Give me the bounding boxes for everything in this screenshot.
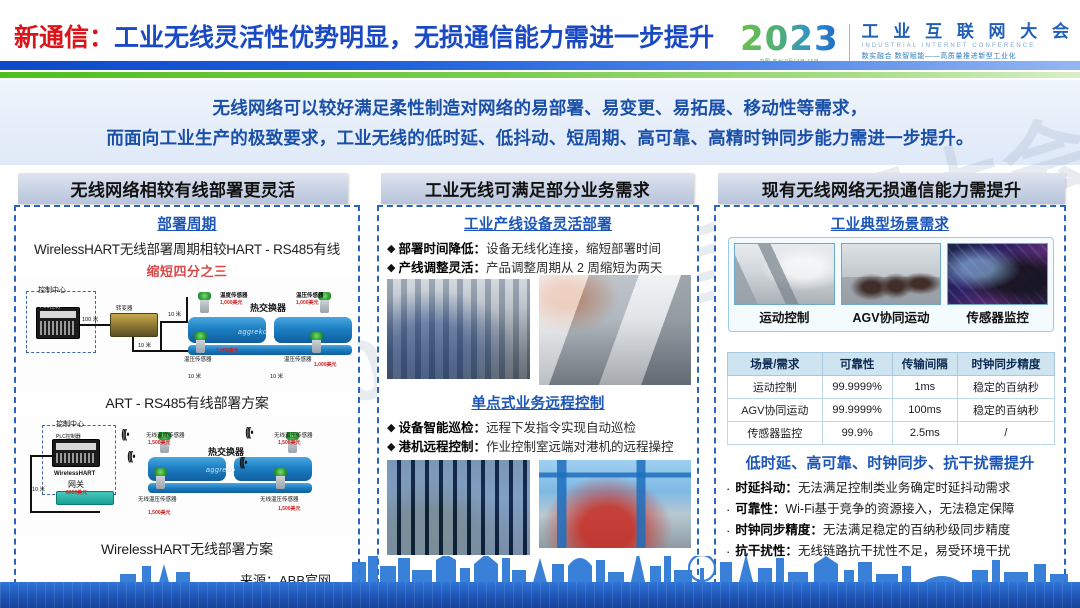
sensor-head-icon	[274, 468, 287, 476]
distance-10m-b: 10 米	[168, 310, 181, 318]
logo-conference-cn: 工 业 互 联 网 大 会	[862, 22, 1074, 42]
wireless-price-4: 1,500美元	[278, 505, 301, 512]
price-label-1: 1,000美元	[220, 299, 243, 306]
wireless-price-1: 1,500美元	[148, 439, 171, 446]
cell-0-1: 99.9999%	[822, 376, 892, 399]
heat-exchanger-base-w	[148, 483, 312, 493]
section-header-right: 现有无线网络无损通信能力需提升	[718, 173, 1065, 204]
logo-text-block: 工 业 互 联 网 大 会 INDUSTRIAL INTERNET CONFER…	[862, 22, 1074, 61]
transformer-unit	[110, 313, 158, 337]
agv-photo	[841, 243, 942, 305]
cell-1-2: 100ms	[892, 399, 957, 422]
bullet-key: 部署时间降低：	[398, 240, 486, 259]
dot-bullet-icon: ·	[726, 541, 730, 562]
table-col-0: 场景/需求	[728, 353, 823, 376]
gap-value: 无线链路抗干扰性不足，易受环境干扰	[798, 541, 1011, 562]
logo-divider	[849, 24, 850, 63]
mid-block2-bullet-1: ◆ 港机远程控制： 作业控制室远端对港机的远程操控	[387, 438, 689, 457]
press-sensor-label-1: 温压传感器	[184, 355, 212, 363]
factory-assembly-photo	[387, 279, 530, 379]
temp-sensor-1	[200, 297, 209, 313]
cell-0-3: 稳定的百纳秒	[957, 376, 1054, 399]
wire-seg-5	[160, 321, 188, 323]
gateway-brand-label: WirelessHART	[54, 471, 95, 477]
dot-bullet-icon: ·	[726, 520, 730, 541]
table-col-2: 传输间隔	[892, 353, 957, 376]
page-title: 新通信：工业无线灵活性优势明显，无损通信能力需进一步提升	[14, 18, 714, 54]
table-col-1: 可靠性	[822, 353, 892, 376]
wireless-press-sensor-2	[276, 473, 285, 489]
plc-screen	[56, 443, 96, 450]
price-label-3: 1,000美元	[216, 347, 239, 354]
press-sensor-label-2: 温压传感器	[284, 355, 312, 363]
wire-w-2	[30, 455, 56, 457]
rf-wave-icon-1: ((( •	[127, 449, 134, 463]
divider-stripe-blue	[0, 61, 1080, 70]
diamond-bullet-icon: ◆	[387, 259, 395, 278]
wireless-deployment-diagram: 控制中心 PLC控制器 WirelessHART 网关 6000美元 10 米 …	[20, 415, 356, 537]
gap-item-0: · 时延抖动： 无法满足控制类业务确定时延抖动需求	[726, 478, 1064, 499]
temp-sensor-label-2: 温压传感器	[296, 291, 324, 299]
scene-card-1: AGV协同运动	[841, 243, 942, 326]
gap-value: Wi-Fi基于竞争的资源接入，无法稳定保障	[785, 499, 1014, 520]
banner-line-2: 而面向工业生产的极致要求，工业无线的低时延、低抖动、短周期、高可靠、高精时钟同步…	[106, 123, 973, 153]
table-col-3: 时钟同步精度	[957, 353, 1054, 376]
wire-w-3	[30, 511, 100, 513]
gap-item-1: · 可靠性： Wi-Fi基于竞争的资源接入，无法稳定保障	[726, 499, 1064, 520]
rf-wave-icon-3: ((( •	[245, 425, 252, 439]
mid-block1-title: 工业产线设备灵活部署	[387, 213, 689, 234]
wire-seg-4	[160, 321, 162, 351]
diamond-bullet-icon: ◆	[387, 419, 395, 438]
wireless-sensor-label-4: 无线温压传感器	[260, 495, 299, 503]
distance-10m-c: 10 米	[188, 372, 201, 380]
plc-label: PLC控制	[40, 303, 60, 310]
wire-w-1	[30, 455, 32, 513]
gap-key: 时钟同步精度：	[735, 520, 823, 541]
gap-key: 时延抖动：	[735, 478, 798, 499]
bullet-key: 产线调整灵活：	[398, 259, 486, 278]
gaps-title: 低时延、高可靠、时钟同步、抗干扰需提升	[714, 452, 1066, 473]
mid-block2-bullet-0: ◆ 设备智能巡检： 远程下发指令实现自动巡检	[387, 419, 689, 438]
transformer-label: 转变器	[116, 304, 133, 312]
bullet-value: 远程下发指令实现自动巡检	[486, 419, 636, 438]
conference-logo: 2023 中国·苏州 9月14日-16日 工 业 互 联 网 大 会 INDUS…	[740, 22, 1074, 65]
cell-2-3: /	[957, 422, 1054, 445]
plc-keypad	[40, 321, 76, 335]
production-line-photo	[539, 275, 691, 385]
bullet-value: 作业控制室远端对港机的远程操控	[486, 438, 674, 457]
gap-key: 可靠性：	[735, 499, 785, 520]
banner-line-1: 无线网络可以较好满足柔性制造对网络的易部署、易变更、易拓展、移动性等需求，	[213, 93, 868, 123]
temp-sensor-label-1: 温度传感器	[220, 291, 248, 299]
distance-10m-w: 10 米	[32, 485, 45, 493]
wire-seg-1	[80, 324, 110, 326]
control-room-photo	[387, 460, 530, 555]
plc-label-w: PLC控制器	[56, 433, 81, 440]
scene-requirements-table: 场景/需求 可靠性 传输间隔 时钟同步精度 运动控制 99.9999% 1ms …	[727, 352, 1055, 445]
press-sensor-1	[196, 337, 205, 353]
bullet-key: 港机远程控制：	[398, 438, 486, 457]
sensor-head-icon	[310, 332, 323, 340]
gap-value: 无法满足控制类业务确定时延抖动需求	[798, 478, 1011, 499]
wire-seg-2	[132, 337, 134, 351]
distance-10m-d: 10 米	[270, 372, 283, 380]
heat-exchanger-base	[188, 345, 352, 355]
plc-unit-w	[52, 439, 100, 467]
scene-caption-1: AGV协同运动	[841, 307, 942, 326]
logo-year: 2023	[740, 22, 839, 56]
title-bar: 新通信：工业无线灵活性优势明显，无损通信能力需进一步提升 2023 中国·苏州 …	[0, 0, 1080, 62]
control-center-label-w: 控制中心	[56, 419, 84, 429]
gap-item-2: · 时钟同步精度： 无法满足稳定的百纳秒级同步精度	[726, 520, 1064, 541]
wireless-sensor-label-2: 无线温压传感器	[274, 431, 313, 439]
distance-10m-a: 10 米	[138, 341, 151, 349]
cell-0-0: 运动控制	[728, 376, 823, 399]
plc-keypad	[56, 453, 96, 463]
wireless-price-3: 1,500美元	[148, 509, 171, 516]
cell-2-1: 99.9%	[822, 422, 892, 445]
cell-0-2: 1ms	[892, 376, 957, 399]
scenes-gallery: 运动控制 AGV协同运动 传感器监控	[728, 237, 1054, 332]
scene-caption-0: 运动控制	[734, 307, 835, 326]
page-title-main: 工业无线灵活性优势明显，无损通信能力需进一步提升	[114, 24, 714, 52]
wireless-diagram-caption: WirelessHART无线部署方案	[16, 539, 358, 559]
sensor-head-icon	[194, 332, 207, 340]
cell-1-3: 稳定的百纳秒	[957, 399, 1054, 422]
table-header-row: 场景/需求 可靠性 传输间隔 时钟同步精度	[728, 353, 1055, 376]
left-panel-title: 部署周期	[22, 213, 352, 234]
dot-bullet-icon: ·	[726, 478, 730, 499]
wireless-sensor-label-1: 无线温度传感器	[146, 431, 185, 439]
vessel-brand-label-w: aggreko	[206, 467, 236, 474]
wired-deployment-diagram: 控制中心 PLC控制 100 米 转变器 10 米 10 米 10 米 10 米…	[20, 277, 356, 392]
price-label-4: 1,000美元	[314, 361, 337, 368]
panel-mid: 工业产线设备灵活部署 ◆ 部署时间降低： 设备无线化连接，缩短部署时间 ◆ 产线…	[377, 205, 699, 585]
gap-value: 无法满足稳定的百纳秒级同步精度	[823, 520, 1011, 541]
wire-seg-6	[186, 297, 188, 323]
vessel-brand-label: aggreko	[238, 329, 268, 336]
motion-control-photo	[734, 243, 835, 305]
sensor-head-icon	[198, 292, 211, 300]
cell-2-0: 传感器监控	[728, 422, 823, 445]
scene-caption-2: 传感器监控	[947, 307, 1048, 326]
sensor-monitor-photo	[947, 243, 1048, 305]
wired-diagram-caption: ART - RS485有线部署方案	[16, 393, 358, 413]
gap-item-3: · 抗干扰性： 无线链路抗干扰性不足，易受环境干扰	[726, 541, 1064, 562]
temp-sensor-2	[320, 297, 329, 313]
divider-stripe-green	[0, 72, 1080, 78]
rf-wave-icon-2: ((( •	[121, 427, 128, 441]
diamond-bullet-icon: ◆	[387, 438, 395, 457]
table-row: 传感器监控 99.9% 2.5ms /	[728, 422, 1055, 445]
table-row: AGV协同运动 99.9999% 100ms 稳定的百纳秒	[728, 399, 1055, 422]
rf-wave-icon-4: ((( •	[239, 455, 246, 469]
gateway-price-label: 6000美元	[66, 489, 87, 496]
scene-card-0: 运动控制	[734, 243, 835, 326]
distance-100m-label: 100 米	[82, 315, 98, 323]
wireless-press-sensor-1	[156, 473, 165, 489]
page-title-prefix: 新通信：	[14, 24, 114, 52]
mid-block2-title: 单点式业务远程控制	[387, 392, 689, 413]
press-sensor-2	[312, 337, 321, 353]
panel-left: 部署周期 WirelessHART无线部署周期相较HART - RS485有线 …	[14, 205, 360, 585]
wireless-sensor-label-3: 无线温压传感器	[138, 495, 177, 503]
logo-year-block: 2023 中国·苏州 9月14日-16日	[740, 22, 839, 65]
table-row: 运动控制 99.9999% 1ms 稳定的百纳秒	[728, 376, 1055, 399]
scene-card-2: 传感器监控	[947, 243, 1048, 326]
dot-bullet-icon: ·	[726, 499, 730, 520]
cell-1-1: 99.9999%	[822, 399, 892, 422]
wireless-price-2: 1,500美元	[278, 439, 301, 446]
skyline-band	[0, 582, 1080, 608]
slide-root: 新通信：工业无线灵活性优势明显，无损通信能力需进一步提升 2023 中国·苏州 …	[0, 0, 1080, 608]
section-header-mid: 工业无线可满足部分业务需求	[381, 173, 694, 204]
source-note: 来源：ABB官网	[240, 570, 331, 600]
plc-unit	[36, 307, 80, 339]
mid-block1-bullet-0: ◆ 部署时间降低： 设备无线化连接，缩短部署时间	[387, 240, 689, 259]
gaps-list: · 时延抖动： 无法满足控制类业务确定时延抖动需求 · 可靠性： Wi-Fi基于…	[726, 478, 1064, 562]
diamond-bullet-icon: ◆	[387, 240, 395, 259]
cell-1-0: AGV协同运动	[728, 399, 823, 422]
section-header-left: 无线网络相较有线部署更灵活	[18, 173, 348, 204]
port-crane-photo	[539, 460, 691, 548]
right-panel-title: 工业典型场景需求	[724, 213, 1056, 234]
logo-slogan: 数实融合 数智赋能——高质量推进新型工业化	[862, 51, 1074, 61]
left-panel-subtitle: WirelessHART无线部署周期相较HART - RS485有线	[22, 238, 352, 258]
sensor-head-icon	[154, 468, 167, 476]
heat-exchanger-label: 热交换器	[250, 301, 286, 314]
plc-screen	[40, 311, 76, 318]
summary-banner: 无线网络可以较好满足柔性制造对网络的易部署、易变更、易拓展、移动性等需求， 而面…	[0, 80, 1080, 165]
gap-key: 抗干扰性：	[735, 541, 798, 562]
bullet-key: 设备智能巡检：	[398, 419, 486, 438]
price-label-2: 1,000美元	[296, 299, 319, 306]
logo-conference-en: INDUSTRIAL INTERNET CONFERENCE	[862, 43, 1074, 49]
bullet-value: 设备无线化连接，缩短部署时间	[486, 240, 661, 259]
cell-2-2: 2.5ms	[892, 422, 957, 445]
control-center-label: 控制中心	[38, 285, 66, 295]
